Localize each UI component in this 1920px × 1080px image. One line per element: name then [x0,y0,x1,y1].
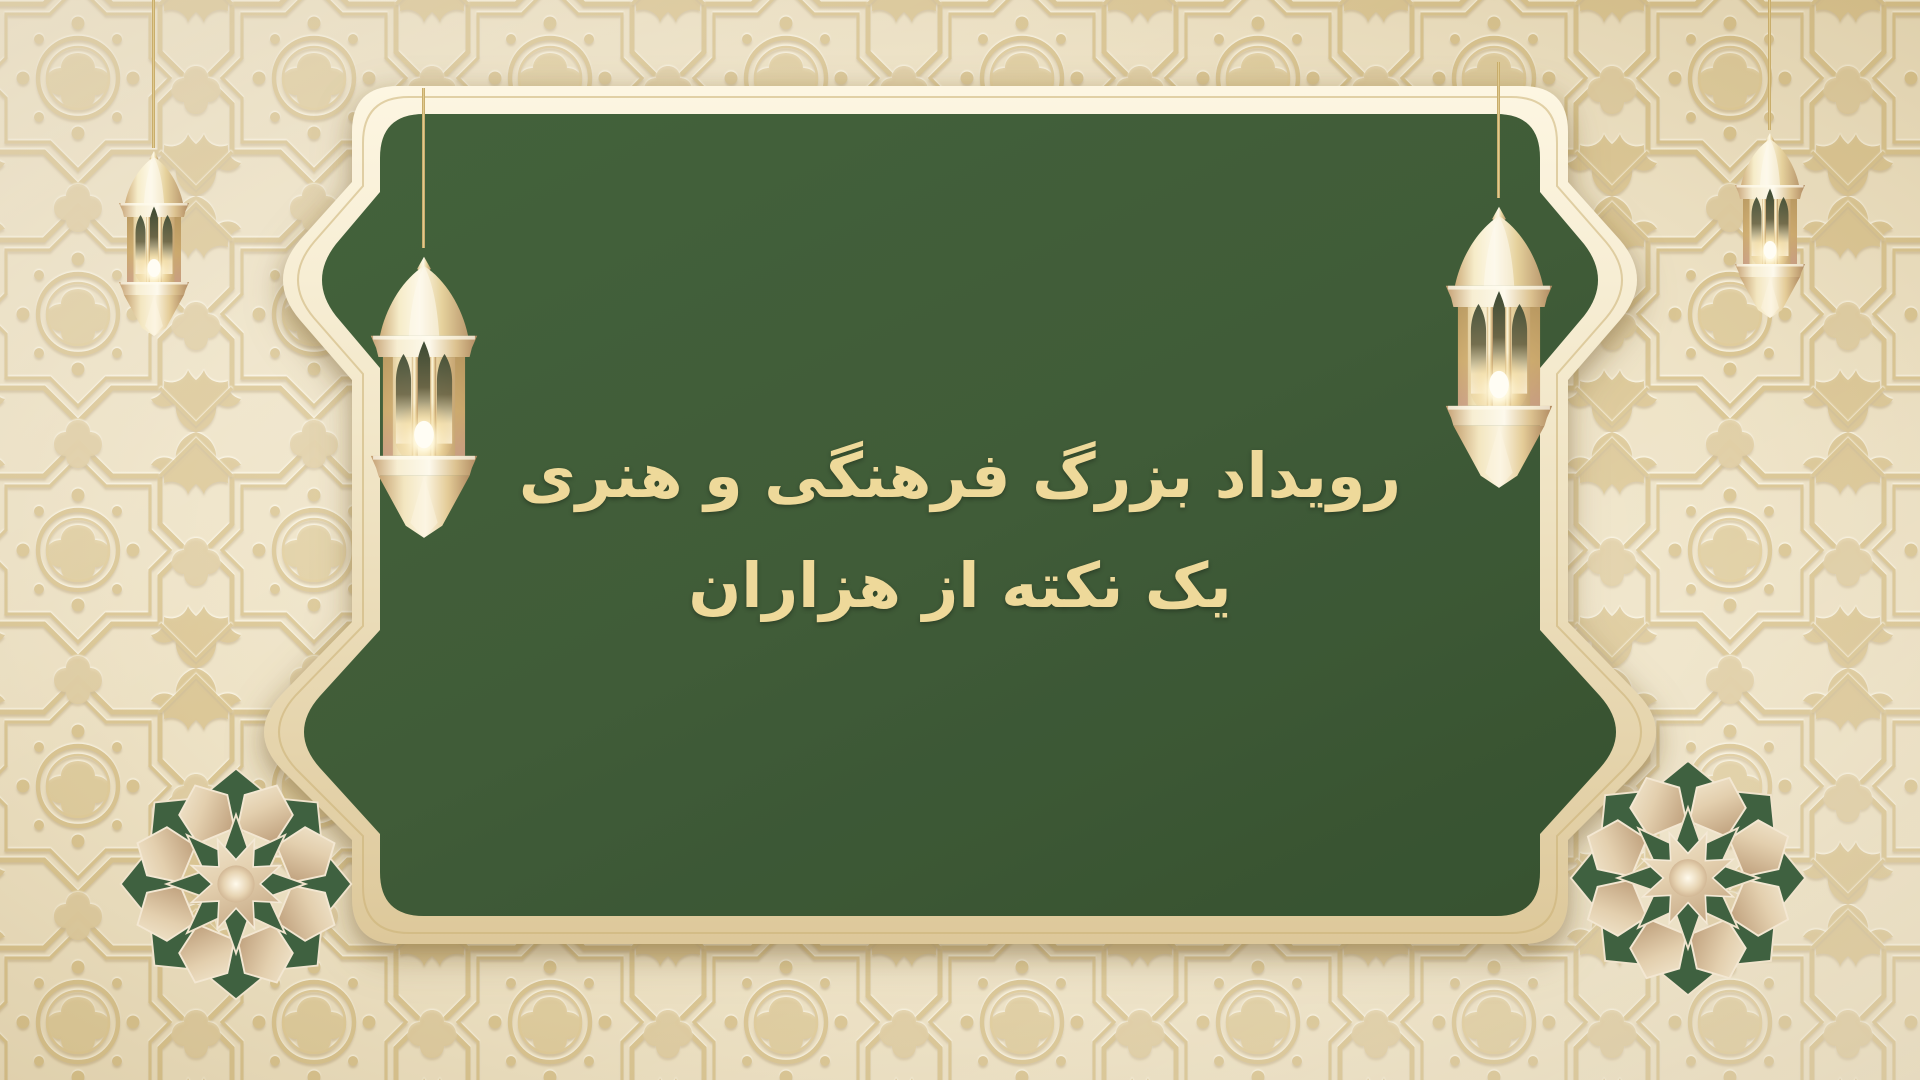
headline-line-2: یک نکته از هزاران [688,538,1231,634]
mandala-bottom-right [1562,752,1814,1004]
lantern-right-inner [1423,190,1575,494]
lantern-left-inner [348,240,500,544]
lantern-cord-right-outer [1768,0,1771,130]
poster-canvas: رویداد بزرگ فرهنگی و هنری یک نکته از هزا… [0,0,1920,1080]
lantern-right-outer [1720,122,1820,322]
lantern-cord-left-outer [152,0,155,148]
lantern-cord-right-inner [1497,62,1500,198]
lantern-left-outer [104,140,204,340]
mandala-bottom-left [112,760,360,1008]
lantern-cord-left-inner [422,88,425,248]
headline-line-1: رویداد بزرگ فرهنگی و هنری [519,428,1401,524]
